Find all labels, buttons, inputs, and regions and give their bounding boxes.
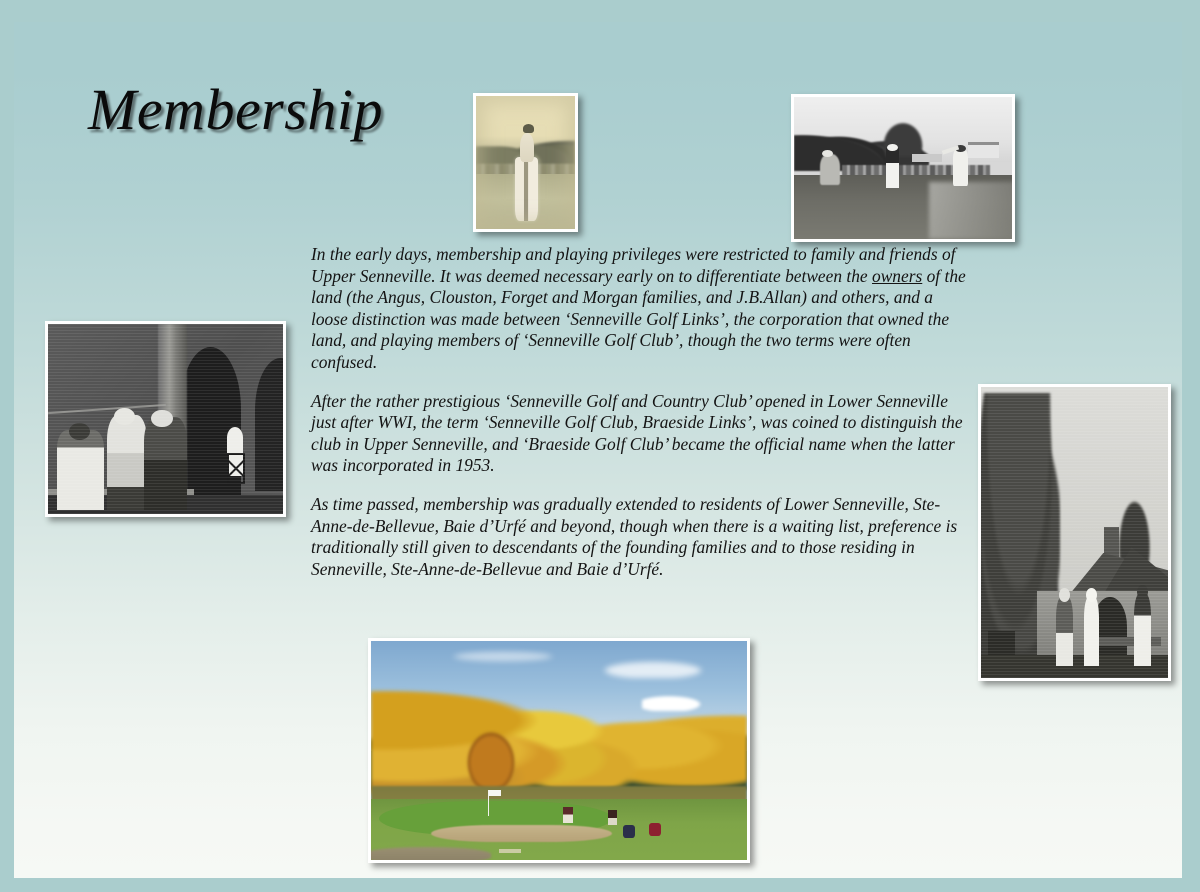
- vignette: [476, 96, 575, 229]
- paragraph-1-segment-1: In the early days, membership and playin…: [311, 244, 955, 286]
- photo-lady-golfer-image: [476, 96, 575, 229]
- photo-autumn-course: [368, 638, 750, 863]
- orange-maple-tree: [461, 724, 521, 794]
- standing-figure-hat: [887, 144, 898, 151]
- swinging-golfer: [953, 150, 968, 187]
- photo-autumn-course-image: [371, 641, 747, 860]
- cart-path: [371, 847, 491, 860]
- page-title: Membership: [88, 76, 383, 143]
- standing-figure-white-skirt: [886, 148, 899, 188]
- golf-bag-blue: [623, 825, 635, 838]
- paragraph-3-segment-1: As time passed, membership was gradually…: [311, 494, 957, 579]
- photo-clubhouse: [978, 384, 1171, 681]
- body-text: In the early days, membership and playin…: [311, 244, 971, 580]
- paragraph-1-underlined-word: owners: [872, 266, 922, 286]
- film-grain: [981, 387, 1168, 678]
- photo-lady-golfer: [473, 93, 578, 232]
- slide-panel: Membership: [14, 22, 1182, 878]
- golden-foliage: [371, 667, 747, 794]
- seated-figure: [820, 154, 840, 185]
- distant-building: [968, 142, 999, 158]
- tee-marker: [499, 849, 522, 853]
- photo-stone-wall-image: [794, 97, 1012, 239]
- paragraph-3: As time passed, membership was gradually…: [311, 494, 971, 580]
- golfer-on-green: [563, 807, 573, 822]
- flag: [489, 790, 500, 797]
- golf-bag-red: [649, 823, 661, 836]
- paragraph-2-segment-1: After the rather prestigious ‘Senneville…: [311, 391, 963, 476]
- golfer-walking: [608, 810, 617, 825]
- photo-clubhouse-image: [981, 387, 1168, 678]
- cloud-wisp: [439, 650, 567, 663]
- paragraph-1: In the early days, membership and playin…: [311, 244, 971, 374]
- photo-group-arch: [45, 321, 286, 517]
- paragraph-2: After the rather prestigious ‘Senneville…: [311, 391, 971, 477]
- path: [929, 182, 1012, 239]
- film-grain: [48, 324, 283, 514]
- photo-stone-wall: [791, 94, 1015, 242]
- slide: Membership: [0, 0, 1200, 892]
- seated-figure-hat: [822, 150, 833, 157]
- sand-bunker: [431, 825, 611, 843]
- photo-group-arch-image: [48, 324, 283, 514]
- distant-shed: [912, 154, 943, 163]
